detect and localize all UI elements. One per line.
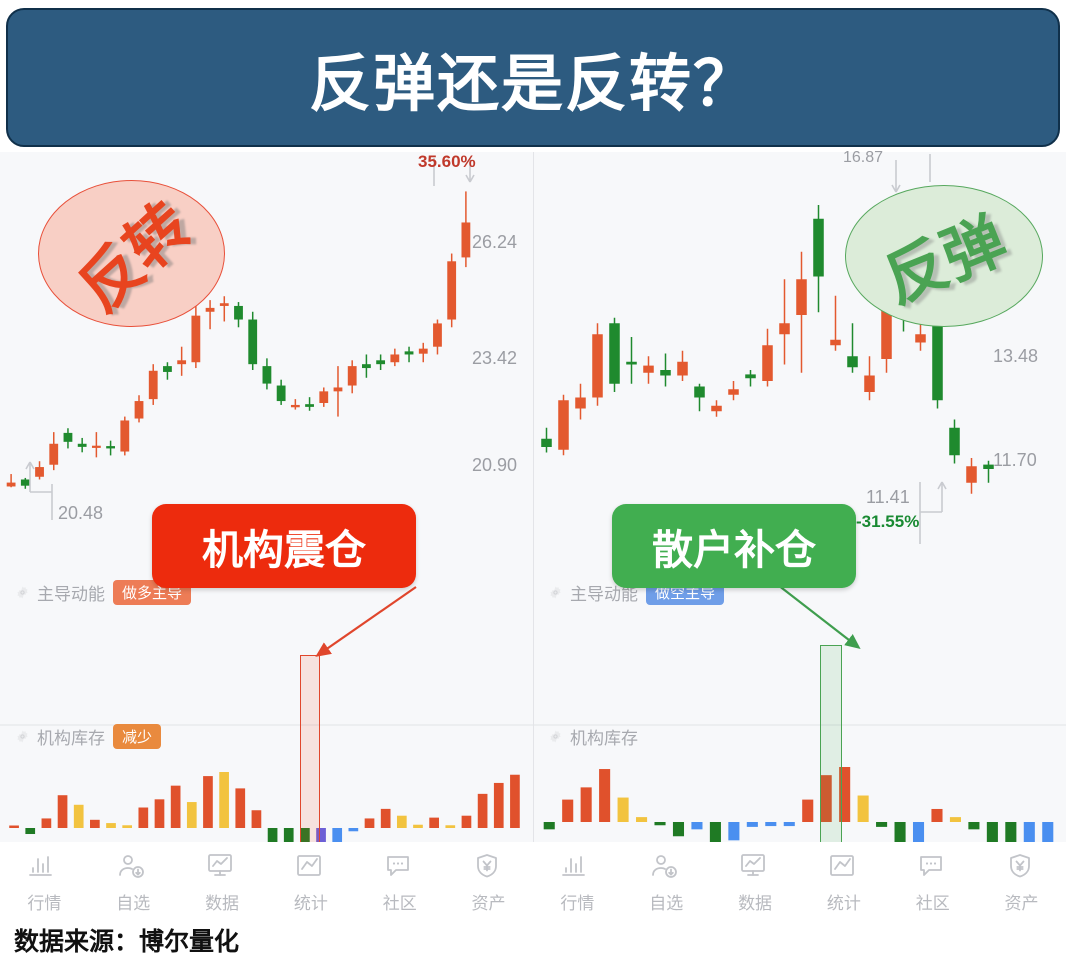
page-title: 反弹还是反转？ — [309, 33, 757, 123]
bottom-navbar-left: 行情自选数据统计社区资产 — [0, 842, 533, 920]
gear-icon — [16, 586, 29, 599]
right-pct-label: -31.55% — [856, 512, 919, 532]
nav-item-资产[interactable]: 资产 — [983, 852, 1061, 914]
reversal-annotation: 反转 — [38, 180, 223, 325]
rebound-annotation: 反弹 — [845, 185, 1041, 325]
nav-label-自选: 自选 — [116, 889, 150, 914]
right-inventory-header[interactable]: 机构库存 — [549, 724, 638, 749]
nav-item-自选[interactable]: 自选 — [627, 852, 705, 914]
chat-icon — [383, 852, 417, 884]
right-callout[interactable]: 散户补仓 — [612, 504, 856, 588]
nav-item-统计[interactable]: 统计 — [272, 852, 350, 914]
nav-label-资产: 资产 — [472, 889, 506, 914]
shield-yuan-icon — [472, 852, 506, 884]
nav-item-数据[interactable]: 数据 — [183, 852, 261, 914]
nav-label-统计: 统计 — [827, 889, 861, 914]
nav-item-社区[interactable]: 社区 — [894, 852, 972, 914]
right-marker-low: 11.41 — [866, 487, 910, 508]
person-add-icon — [649, 852, 683, 884]
bottom-navbar-right: 行情自选数据统计社区资产 — [533, 842, 1066, 920]
left-callout[interactable]: 机构震仓 — [152, 504, 416, 588]
nav-label-数据: 数据 — [205, 889, 239, 914]
left-momentum-name: 主导动能 — [37, 580, 105, 605]
bar-chart-icon — [27, 852, 61, 884]
line-chart-icon — [294, 852, 328, 884]
monitor-chart-icon — [738, 852, 772, 884]
left-pct-label: 35.60% — [418, 152, 476, 172]
left-inventory-badge: 减少 — [113, 724, 161, 749]
left-highlight-box — [300, 655, 320, 843]
right-price-16: 16.87 — [843, 149, 883, 167]
left-inventory-name: 机构库存 — [37, 724, 105, 749]
right-price-11: 11.70 — [993, 450, 1037, 471]
nav-label-资产: 资产 — [1005, 889, 1039, 914]
bar-chart-icon — [560, 852, 594, 884]
nav-label-数据: 数据 — [738, 889, 772, 914]
left-price-26: 26.24 — [472, 232, 517, 253]
shield-yuan-icon — [1005, 852, 1039, 884]
nav-label-行情: 行情 — [560, 889, 594, 914]
nav-item-数据[interactable]: 数据 — [716, 852, 794, 914]
gear-icon — [549, 586, 562, 599]
gear-icon — [16, 730, 29, 743]
monitor-chart-icon — [205, 852, 239, 884]
left-price-20: 20.90 — [472, 455, 517, 476]
nav-item-自选[interactable]: 自选 — [94, 852, 172, 914]
nav-item-行情[interactable]: 行情 — [538, 852, 616, 914]
person-add-icon — [116, 852, 150, 884]
left-inventory-header[interactable]: 机构库存 减少 — [16, 724, 161, 749]
left-price-23: 23.42 — [472, 348, 517, 369]
nav-item-资产[interactable]: 资产 — [450, 852, 528, 914]
nav-label-统计: 统计 — [294, 889, 328, 914]
chat-icon — [916, 852, 950, 884]
data-source-note: 数据来源：博尔量化 — [14, 922, 239, 958]
header-banner: 反弹还是反转？ — [6, 8, 1060, 147]
gear-icon — [549, 730, 562, 743]
nav-label-行情: 行情 — [27, 889, 61, 914]
left-callout-label: 机构震仓 — [202, 516, 366, 576]
right-price-13: 13.48 — [993, 346, 1038, 367]
nav-label-社区: 社区 — [916, 889, 950, 914]
right-highlight-box — [820, 645, 842, 845]
nav-item-统计[interactable]: 统计 — [805, 852, 883, 914]
right-callout-label: 散户补仓 — [652, 516, 816, 576]
line-chart-icon — [827, 852, 861, 884]
nav-label-社区: 社区 — [383, 889, 417, 914]
left-marker-low: 20.48 — [58, 503, 103, 524]
nav-item-社区[interactable]: 社区 — [361, 852, 439, 914]
right-inventory-name: 机构库存 — [570, 724, 638, 749]
nav-label-自选: 自选 — [649, 889, 683, 914]
nav-item-行情[interactable]: 行情 — [5, 852, 83, 914]
